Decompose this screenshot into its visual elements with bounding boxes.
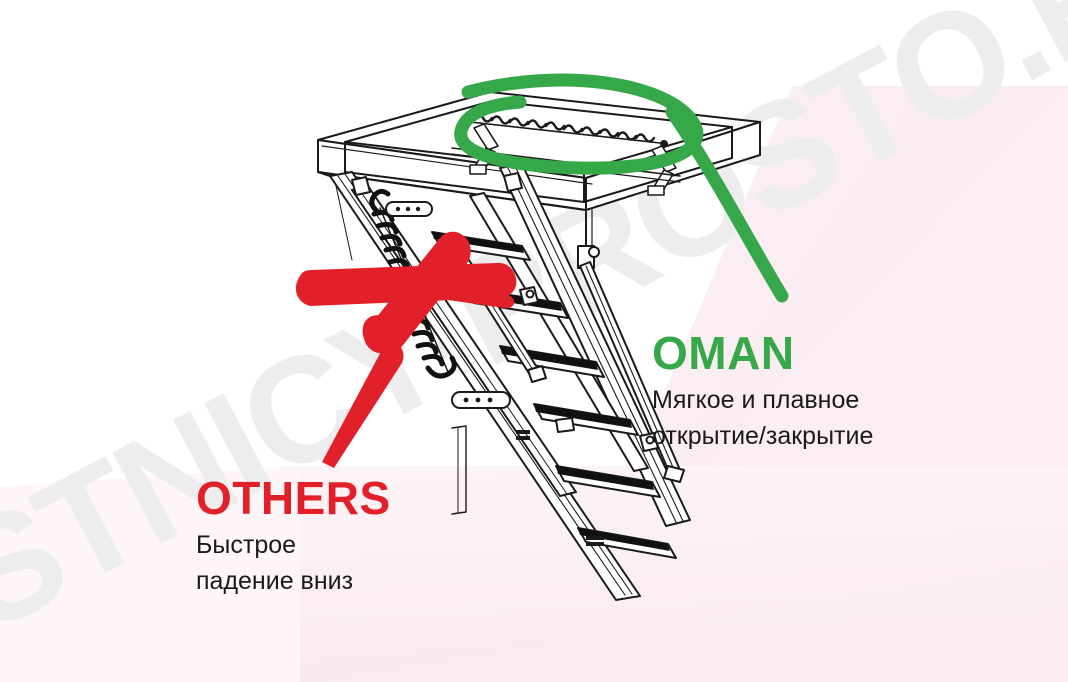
illustration-canvas: LESTNICY-PROSTO.RU bbox=[0, 0, 1068, 682]
callout-others-brand: OTHERS bbox=[196, 475, 391, 521]
callout-others: OTHERS Быстрое падение вниз bbox=[196, 475, 391, 600]
callout-oman-desc-line1: Мягкое и плавное bbox=[652, 382, 873, 418]
red-annotation bbox=[0, 0, 1068, 682]
callout-oman: OMAN Мягкое и плавное открытие/закрытие bbox=[652, 330, 873, 455]
callout-oman-desc-line2: открытие/закрытие bbox=[652, 418, 873, 454]
red-arrow-tail bbox=[322, 341, 403, 468]
callout-others-desc-line2: падение вниз bbox=[196, 563, 391, 599]
callout-oman-brand: OMAN bbox=[652, 330, 873, 376]
callout-others-desc-line1: Быстрое bbox=[196, 527, 391, 563]
